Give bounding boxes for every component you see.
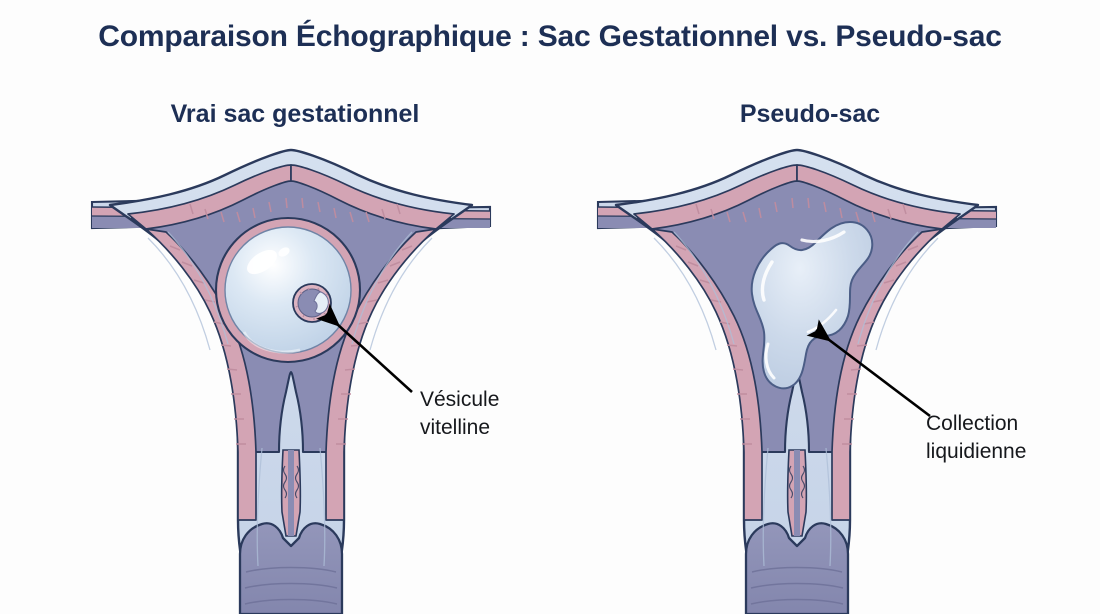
cervical-canal-left bbox=[282, 450, 301, 536]
callout-right-line1: Collection bbox=[926, 410, 1026, 438]
yolk-sac-inner-left bbox=[298, 289, 326, 317]
cervix-right bbox=[746, 523, 848, 614]
myometrium-left bbox=[110, 150, 472, 614]
myometrium-striations-right bbox=[654, 232, 938, 566]
uterine-cavity-right bbox=[638, 168, 956, 452]
cervical-canal-rugae-left bbox=[284, 466, 299, 498]
cervical-canal-center-left bbox=[288, 450, 294, 536]
page-title: Comparaison Échographique : Sac Gestatio… bbox=[0, 20, 1100, 54]
fluid-collection-highlights-right bbox=[762, 232, 844, 378]
endometrium-right-limb-right-panel bbox=[797, 165, 960, 229]
decidual-ring-left bbox=[216, 218, 360, 362]
uterus-right-group bbox=[598, 150, 996, 614]
endometrium-hatching-left bbox=[170, 198, 412, 444]
uterus-left-group bbox=[92, 150, 490, 614]
fallopian-tube-left bbox=[92, 200, 490, 229]
endometrium-left-limb-right-panel bbox=[634, 165, 797, 229]
endometrium-descending-right-right-panel bbox=[832, 229, 942, 520]
gestational-sac-left bbox=[225, 227, 351, 353]
panel-title-pseudo-sac: Pseudo-sac bbox=[555, 100, 1065, 129]
leader-line-left bbox=[326, 314, 412, 392]
cervix-rugae-right bbox=[751, 568, 843, 605]
callout-label-yolk-sac: Vésicule vitelline bbox=[420, 386, 499, 441]
yolk-sac-left bbox=[293, 284, 331, 322]
cervix-left bbox=[240, 523, 342, 614]
leader-line-right bbox=[816, 330, 930, 416]
myometrium-striations-left bbox=[148, 232, 432, 566]
sac-highlight-secondary bbox=[277, 246, 291, 259]
cervical-canal-rugae-right bbox=[790, 466, 805, 498]
sac-highlight-primary bbox=[243, 245, 281, 279]
myometrium-right bbox=[616, 150, 978, 614]
figure-root: Comparaison Échographique : Sac Gestatio… bbox=[0, 0, 1100, 614]
panel-title-true-gestational-sac: Vrai sac gestationnel bbox=[40, 100, 550, 129]
fallopian-tube-right bbox=[598, 200, 996, 229]
fluid-collection-right bbox=[752, 222, 873, 388]
cervical-canal-right bbox=[788, 450, 807, 536]
endometrium-left-limb bbox=[128, 165, 291, 229]
cervix-rugae-left bbox=[245, 568, 337, 605]
endometrium-hatching-right bbox=[676, 198, 918, 444]
callout-left-line2: vitelline bbox=[420, 414, 499, 442]
callout-right-line2: liquidienne bbox=[926, 438, 1026, 466]
endometrium-right-limb bbox=[291, 165, 454, 229]
illustration-true-gestational-sac bbox=[0, 0, 1100, 614]
uterine-cavity-left bbox=[132, 168, 450, 452]
sac-inner-sheen bbox=[244, 332, 300, 352]
endometrium-descending-left bbox=[146, 229, 256, 520]
callout-left-line1: Vésicule bbox=[420, 386, 499, 414]
cervical-canal-center-right bbox=[794, 450, 800, 536]
endometrium-descending-left-right-panel bbox=[652, 229, 762, 520]
embryo-left bbox=[314, 292, 328, 313]
endometrium-left bbox=[120, 159, 462, 452]
endometrium-descending-right bbox=[326, 229, 436, 520]
callout-label-fluid-collection: Collection liquidienne bbox=[926, 410, 1026, 465]
yolk-sac-stipple-left bbox=[296, 288, 330, 320]
